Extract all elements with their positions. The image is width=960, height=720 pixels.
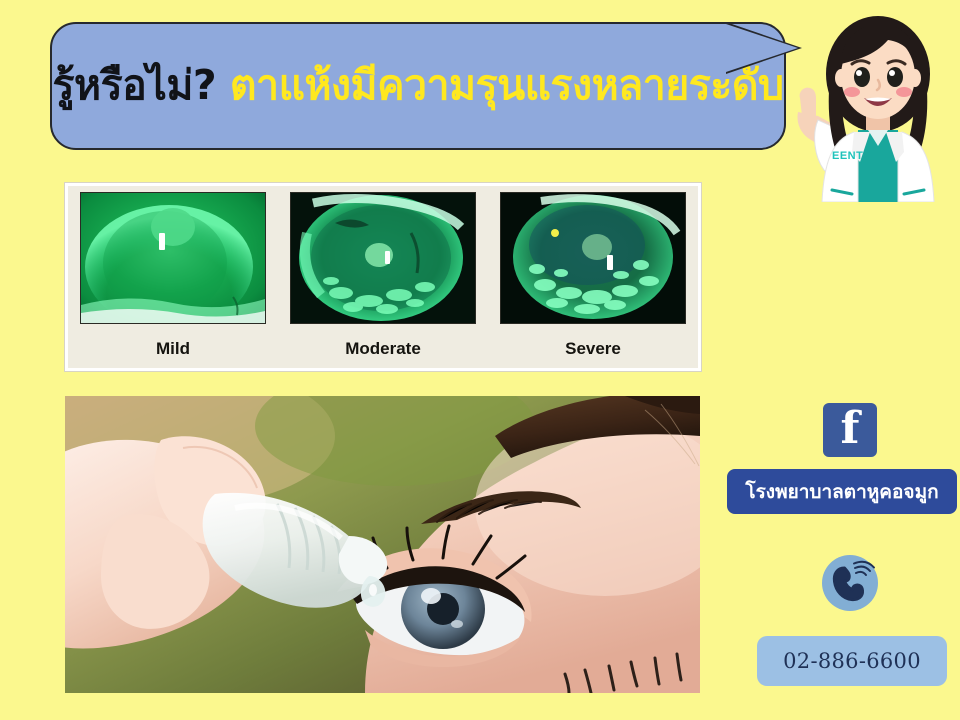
phone-handset-svg (822, 555, 878, 611)
poster-canvas: รู้หรือไม่? ตาแห้งมีความรุนแรงหลายระดับ (0, 0, 960, 720)
speech-bubble-body: รู้หรือไม่? ตาแห้งมีความรุนแรงหลายระดับ (50, 22, 786, 150)
cornea-mild-svg (81, 193, 265, 323)
cheek-left (844, 87, 860, 97)
cornea-figure-severe (500, 192, 686, 324)
pointing-finger-icon (800, 88, 816, 116)
eye-drop-photo-svg (65, 396, 700, 693)
cornea-label-severe: Severe (500, 339, 686, 359)
cornea-severity-panel: Mild Moderate Severe (65, 183, 701, 371)
cornea-label-mild: Mild (80, 339, 266, 359)
speech-bubble: รู้หรือไม่? ตาแห้งมีความรุนแรงหลายระดับ (50, 22, 786, 150)
headline-statement: ตาแห้งมีความรุนแรงหลายระดับ (230, 61, 784, 109)
ear-left (835, 69, 847, 87)
facebook-f-glyph: f (823, 403, 877, 457)
yellow-stain-spot (551, 229, 559, 237)
doctor-illustration: EENT (796, 12, 960, 202)
phone-number: 02-886-6600 (783, 649, 921, 673)
eye-right (887, 67, 903, 87)
ear-right (909, 69, 921, 87)
eye-drop-photo (65, 396, 700, 693)
eye-right-highlight (889, 70, 895, 76)
cornea-figure-mild (80, 192, 266, 324)
facebook-page-badge[interactable]: โรงพยาบาลตาหูคอจมูก (727, 469, 957, 514)
cheek-right (896, 87, 912, 97)
eye-left (854, 67, 870, 87)
cornea-severe-svg (501, 193, 685, 323)
specular-highlight-moderate (385, 251, 390, 264)
facebook-icon[interactable]: f (823, 403, 877, 457)
cornea-label-moderate: Moderate (290, 339, 476, 359)
phone-number-badge[interactable]: 02-886-6600 (757, 636, 947, 686)
doctor-svg (796, 12, 960, 202)
eye-left-highlight (856, 70, 862, 76)
specular-highlight-severe (607, 255, 613, 270)
cornea-labels-row: Mild Moderate Severe (68, 328, 698, 370)
phone-icon[interactable] (822, 555, 878, 611)
speech-bubble-tail (726, 24, 798, 72)
cornea-moderate-svg (291, 193, 475, 323)
specular-highlight-mild (159, 233, 165, 250)
facebook-page-name: โรงพยาบาลตาหูคอจมูก (745, 477, 938, 507)
headline: รู้หรือไม่? ตาแห้งมีความรุนแรงหลายระดับ (53, 64, 784, 107)
cornea-figure-moderate (290, 192, 476, 324)
cornea-image-row (68, 186, 698, 330)
headline-question: รู้หรือไม่? (53, 61, 217, 109)
doctor-coat-badge: EENT (832, 150, 863, 162)
